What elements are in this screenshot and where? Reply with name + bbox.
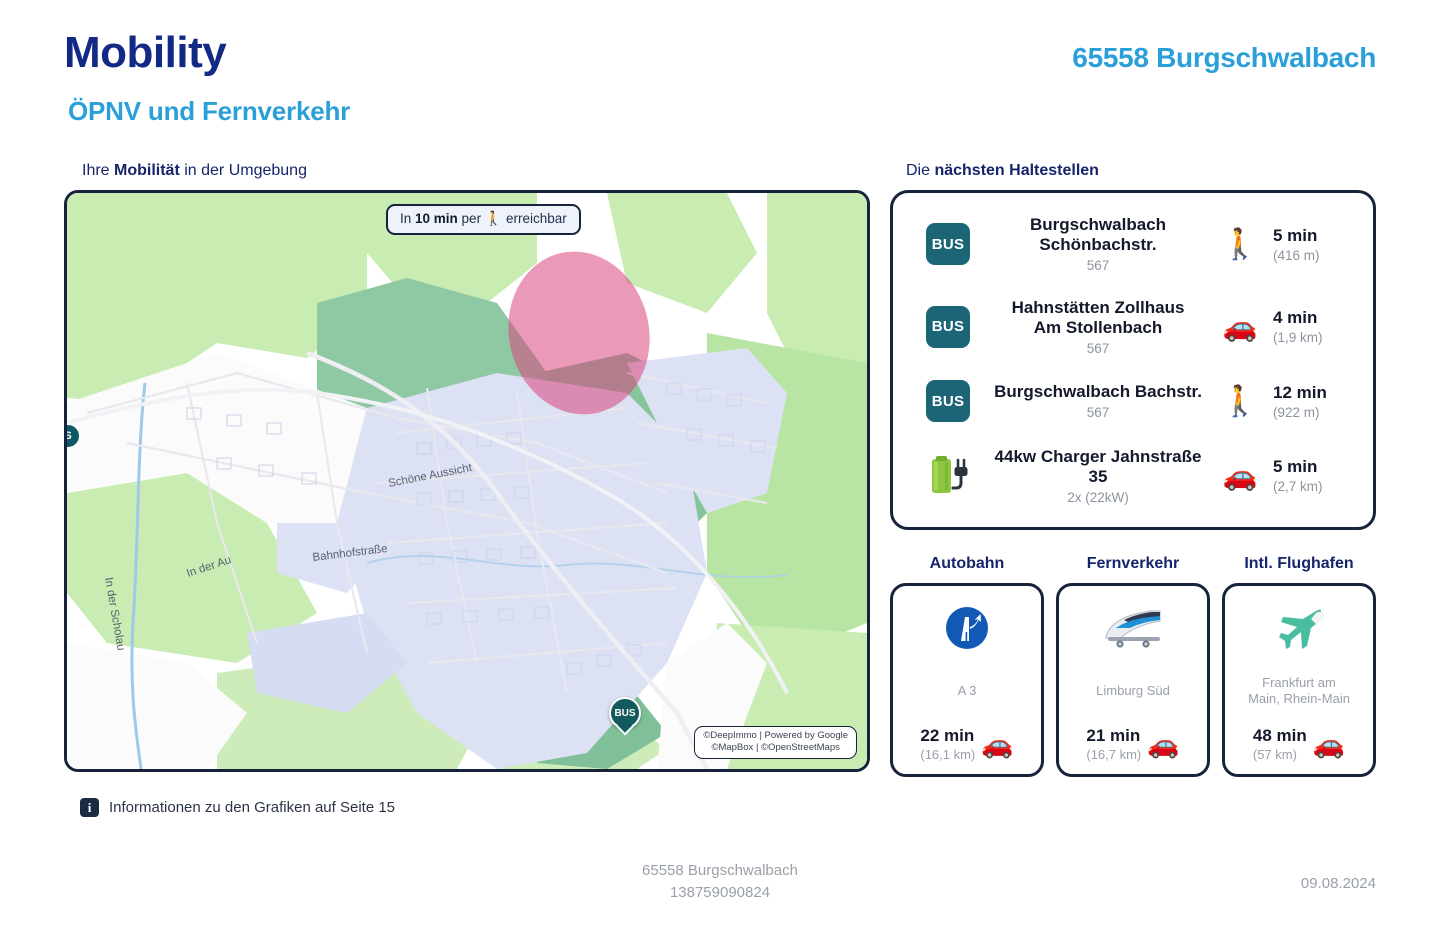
ev-charger-icon [925,454,971,498]
card-time: 21 min [1086,726,1141,746]
location-heading: 65558 Burgschwalbach [1072,42,1376,74]
card-body-flughafen[interactable]: Frankfurt am Main, Rhein-Main 48 min (57… [1222,583,1376,777]
bus-badge-icon: BUS [926,223,970,265]
stop-row[interactable]: BUS Hahnstätten Zollhaus Am Stollenbach … [909,298,1357,356]
high-speed-train-icon [1102,600,1164,656]
bus-badge-label: BUS [932,236,965,253]
nearest-stops-panel: BUS Burgschwalbach Schönbachstr. 567 🚶 5… [890,190,1376,530]
stop-travel: 5 min (416 m) [1271,226,1357,263]
stop-lines: 567 [991,258,1205,273]
s-pin-label: S [64,430,71,442]
bus-badge-label: BUS [932,318,965,335]
stop-lines: 567 [991,405,1205,420]
stop-name: Burgschwalbach Bachstr. [991,382,1205,402]
stop-icon-cell: BUS [909,223,987,265]
pedestrian-icon: 🚶 [1209,384,1271,419]
map-attribution: ©DeepImmo | Powered by Google ©MapBox | … [694,726,857,759]
card-title: Intl. Flughafen [1222,555,1376,573]
graphics-info-text: Informationen zu den Grafiken auf Seite … [109,799,395,816]
stop-lines: 567 [991,341,1205,356]
stops-caption-bold: nächsten Haltestellen [934,162,1099,179]
stop-time: 5 min [1273,226,1357,246]
stop-name: 44kw Charger Jahnstraße 35 [991,447,1205,487]
stop-info: 44kw Charger Jahnstraße 35 2x (22kW) [987,447,1209,505]
stop-travel: 5 min (2,7 km) [1271,457,1357,494]
pedestrian-icon: 🚶 [1209,227,1271,262]
map-caption-pre: Ihre [82,162,114,179]
car-icon: 🚗 [1209,459,1271,492]
card-distance: (57 km) [1253,747,1307,762]
car-icon: 🚗 [1209,310,1271,343]
map-caption: Ihre Mobilität in der Umgebung [82,162,307,180]
attribution-line-1: ©DeepImmo | Powered by Google [703,730,848,742]
card-subtitle: Limburg Süd [1094,656,1172,726]
car-icon: 🚗 [981,729,1013,760]
airplane-icon [1271,600,1327,656]
mobility-map[interactable]: Schöne Aussicht Bahnhofstraße In der Au … [64,190,870,772]
stop-time: 5 min [1273,457,1357,477]
stop-distance: (2,7 km) [1273,479,1357,494]
stop-name: Hahnstätten Zollhaus Am Stollenbach [991,298,1205,338]
card-subtitle: Frankfurt am Main, Rhein-Main [1246,656,1352,726]
card-travel: 48 min (57 km) 🚗 [1233,726,1365,762]
card-distance: (16,1 km) [920,747,975,762]
page-subtitle: ÖPNV und Fernverkehr [68,96,350,127]
car-icon: 🚗 [1147,729,1179,760]
stops-caption: Die nächsten Haltestellen [906,162,1099,180]
map-pin-label: BUS [614,708,635,719]
page-footer: 65558 Burgschwalbach 138759090824 [0,860,1440,904]
stop-travel: 12 min (922 m) [1271,383,1357,420]
card-body-autobahn[interactable]: A 3 22 min (16,1 km) 🚗 [890,583,1044,777]
stop-row[interactable]: BUS Burgschwalbach Schönbachstr. 567 🚶 5… [909,215,1357,273]
motorway-sign-icon [943,600,991,656]
stop-distance: (922 m) [1273,405,1357,420]
isochrone-mid: per [458,211,485,226]
stop-row[interactable]: 44kw Charger Jahnstraße 35 2x (22kW) 🚗 5… [909,447,1357,505]
footer-reference-id: 138759090824 [0,882,1440,904]
card-body-fernverkehr[interactable]: Limburg Süd 21 min (16,7 km) 🚗 [1056,583,1210,777]
page-title: Mobility [64,28,226,78]
isochrone-post: erreichbar [502,211,567,226]
stop-icon-cell: BUS [909,380,987,422]
card-distance: (16,7 km) [1086,747,1141,762]
info-icon: i [80,798,99,817]
card-title: Fernverkehr [1056,555,1210,573]
stop-distance: (1,9 km) [1273,330,1357,345]
bus-badge-icon: BUS [926,306,970,348]
stops-caption-pre: Die [906,162,934,179]
map-canvas[interactable]: Schöne Aussicht Bahnhofstraße In der Au … [67,193,867,769]
graphics-info-note: i Informationen zu den Grafiken auf Seit… [80,798,395,817]
map-bus-stop-pin[interactable]: BUS [609,697,641,729]
footer-location: 65558 Burgschwalbach [0,860,1440,882]
card-fernverkehr: Fernverkehr Limburg Süd 21 min [1056,555,1210,777]
car-icon: 🚗 [1313,729,1345,760]
stop-info: Burgschwalbach Schönbachstr. 567 [987,215,1209,273]
stop-info: Burgschwalbach Bachstr. 567 [987,382,1209,420]
stop-icon-cell [909,454,987,498]
stop-icon-cell: BUS [909,306,987,348]
stop-travel: 4 min (1,9 km) [1271,308,1357,345]
card-subtitle: A 3 [956,656,979,726]
bus-badge-icon: BUS [926,380,970,422]
stop-time: 12 min [1273,383,1357,403]
isochrone-pre: In [400,211,415,226]
isochrone-badge: In 10 min per 🚶 erreichbar [386,204,581,235]
card-travel: 22 min (16,1 km) 🚗 [901,726,1033,762]
transport-cards: Autobahn A 3 22 min (16,1 km) [890,555,1376,777]
card-title: Autobahn [890,555,1044,573]
attribution-line-2: ©MapBox | ©OpenStreetMaps [703,742,848,754]
stop-name: Burgschwalbach Schönbachstr. [991,215,1205,255]
card-time: 48 min [1253,726,1307,746]
stop-distance: (416 m) [1273,248,1357,263]
stop-lines: 2x (22kW) [991,490,1205,505]
map-caption-bold: Mobilität [114,162,180,179]
isochrone-value: 10 min [415,211,458,226]
card-time: 22 min [920,726,975,746]
pedestrian-icon: 🚶 [485,210,502,226]
map-caption-post: in der Umgebung [180,162,307,179]
card-autobahn: Autobahn A 3 22 min (16,1 km) [890,555,1044,777]
footer-date: 09.08.2024 [1301,875,1376,892]
mobility-report-page: Mobility ÖPNV und Fernverkehr 65558 Burg… [0,0,1440,942]
stop-info: Hahnstätten Zollhaus Am Stollenbach 567 [987,298,1209,356]
card-travel: 21 min (16,7 km) 🚗 [1067,726,1199,762]
card-flughafen: Intl. Flughafen Frankfurt am Main, Rhein… [1222,555,1376,777]
bus-badge-label: BUS [932,393,965,410]
stop-row[interactable]: BUS Burgschwalbach Bachstr. 567 🚶 12 min… [909,380,1357,422]
stop-time: 4 min [1273,308,1357,328]
